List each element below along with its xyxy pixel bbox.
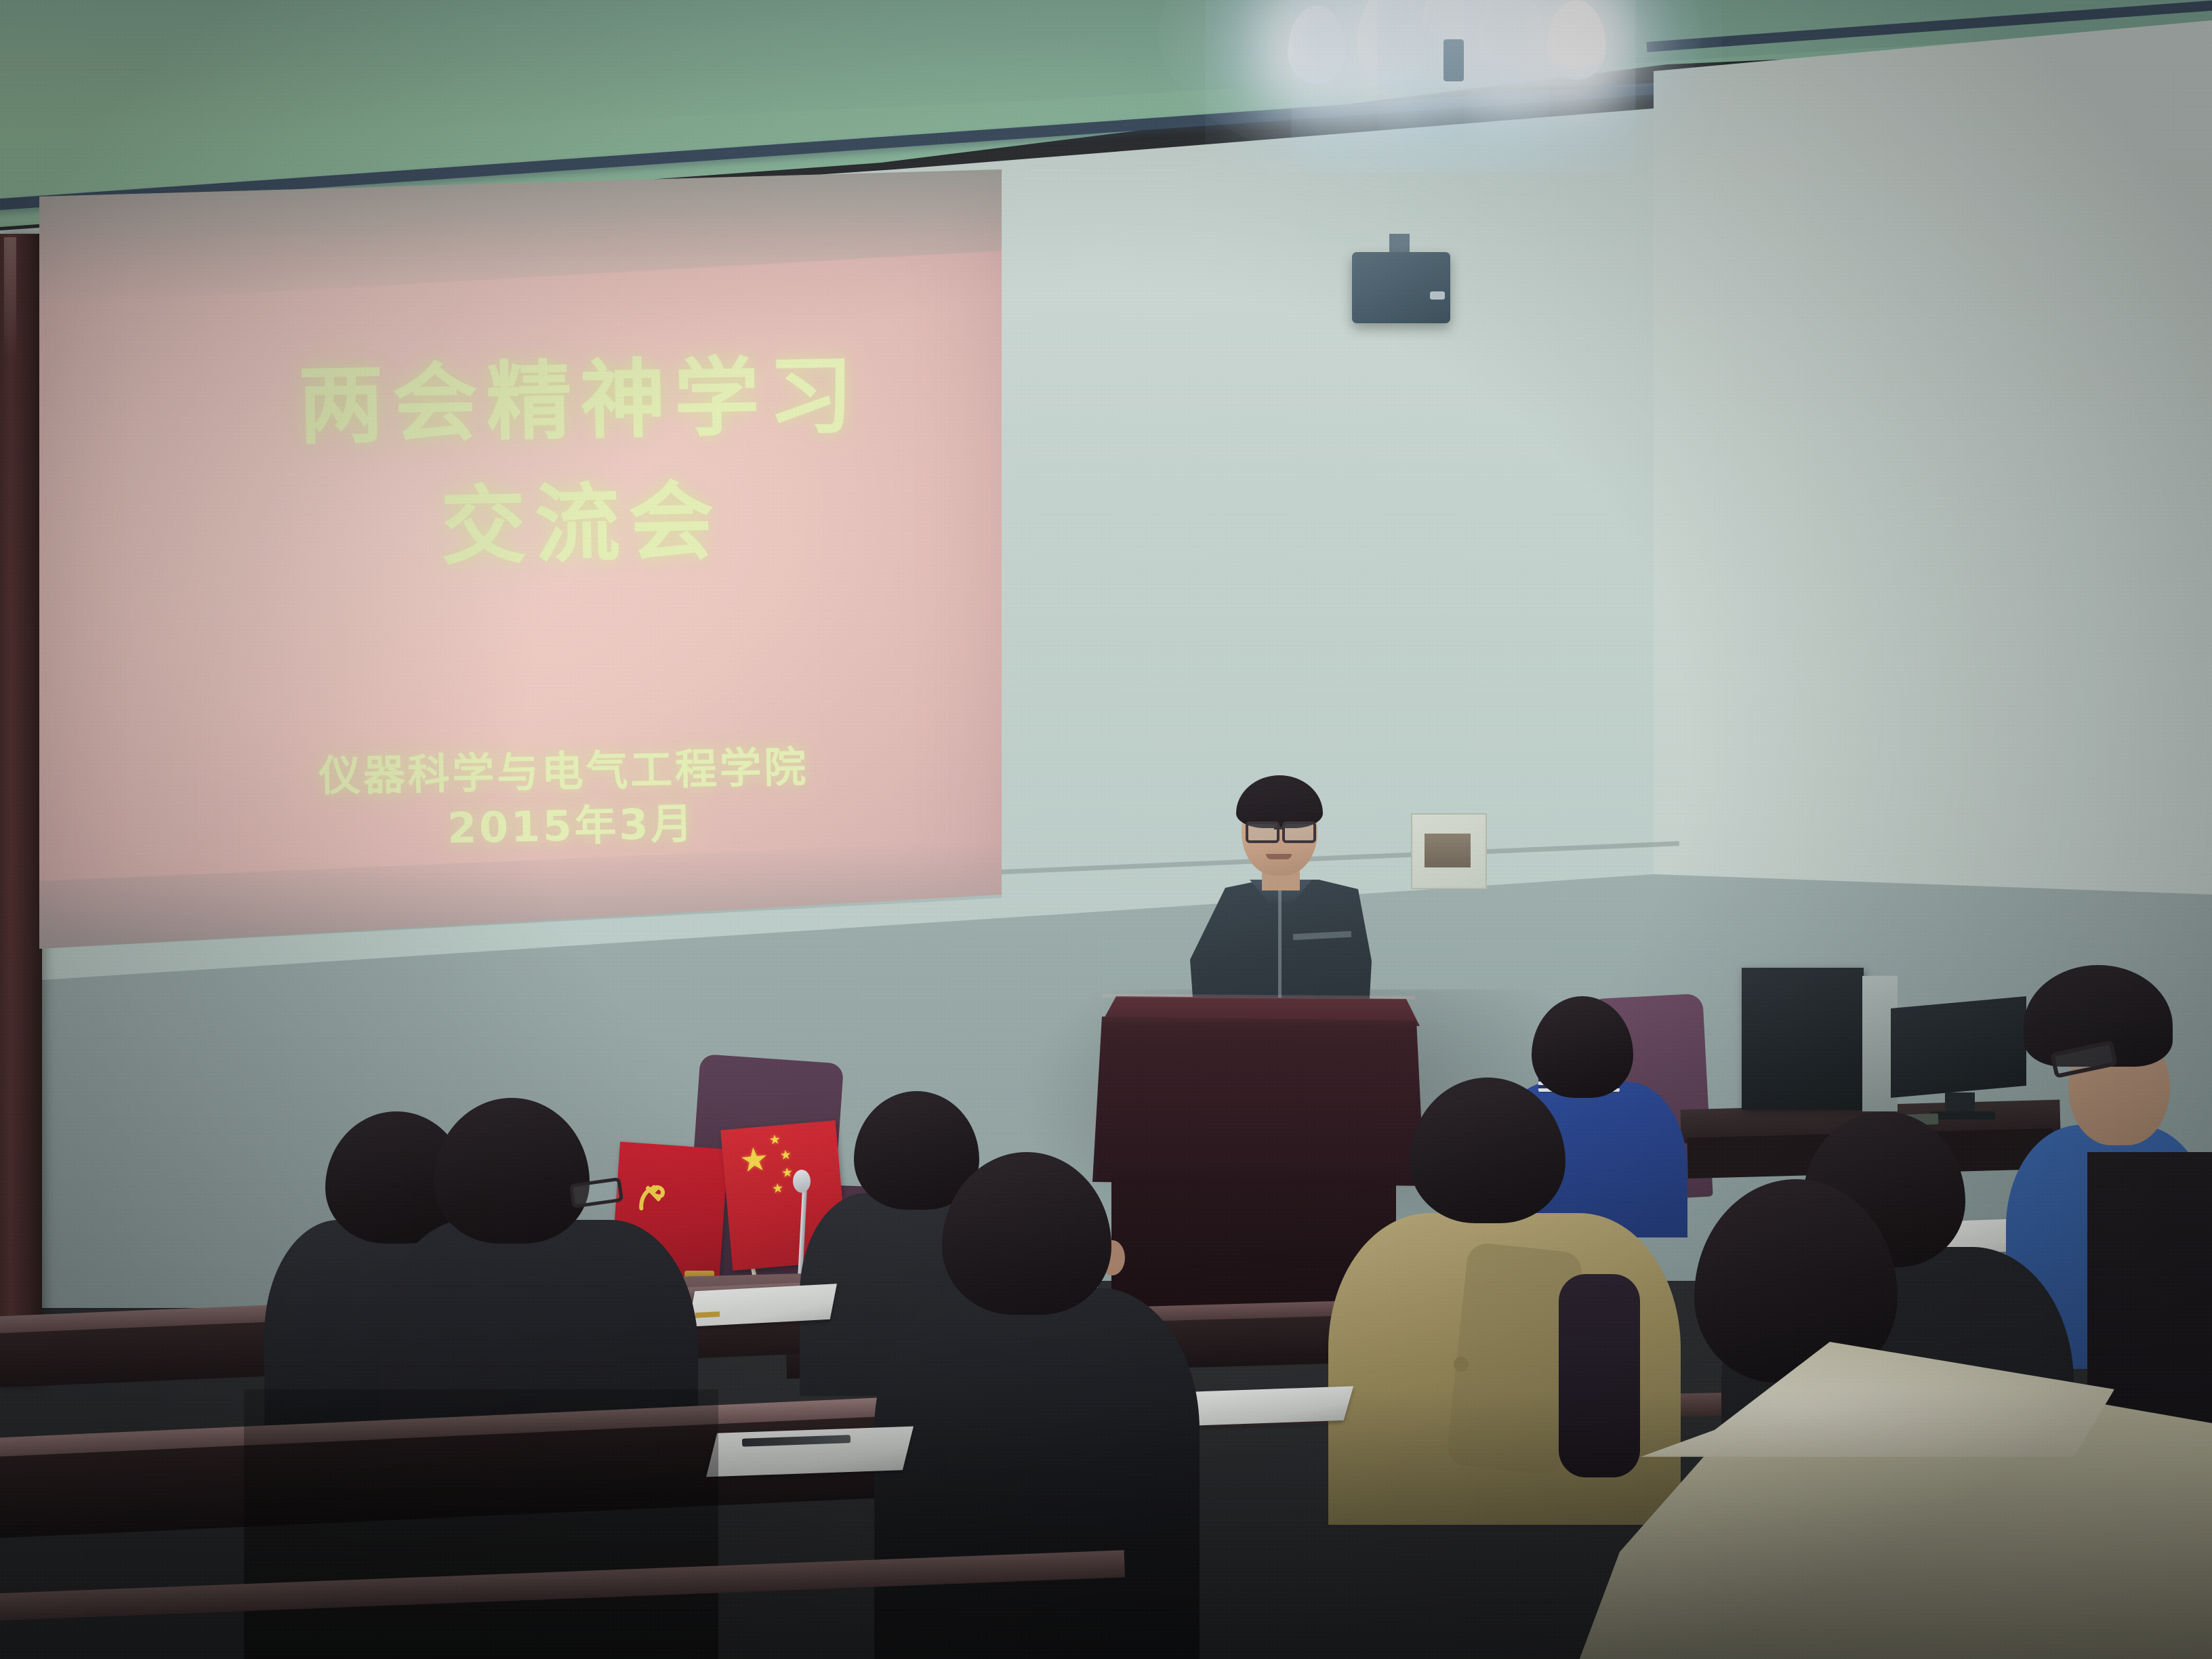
presenter-hair xyxy=(1236,775,1323,828)
door-frame xyxy=(0,234,42,1386)
monitor-foot xyxy=(1930,1111,1995,1120)
coat-button xyxy=(1454,1357,1469,1372)
flag-star-small: ★ xyxy=(769,1133,781,1147)
microphone-head xyxy=(793,1170,811,1193)
flag-star-small: ★ xyxy=(779,1149,792,1162)
glasses-icon xyxy=(1282,821,1316,843)
foreground-shadow xyxy=(244,1389,718,1659)
open-notebook xyxy=(706,1427,914,1477)
hammer-and-sickle-icon xyxy=(632,1178,674,1220)
glasses-icon xyxy=(1246,821,1279,843)
computer-monitor xyxy=(1891,996,2026,1098)
glasses-bridge xyxy=(1274,827,1284,829)
light-bulb xyxy=(1357,0,1427,87)
door-frame-highlight xyxy=(4,237,16,359)
projector-lens-icon xyxy=(1430,291,1445,300)
paper-sheet xyxy=(1174,1386,1353,1426)
flag-star-large: ★ xyxy=(738,1143,770,1178)
wall-electrical-box-inner xyxy=(1425,834,1471,867)
light-stem xyxy=(1443,39,1464,81)
lecture-hall-photo: 两会精神学习 交流会 仪器科学与电气工程学院 2015年3月 xyxy=(0,0,2212,1659)
audience-member-torso xyxy=(874,1288,1200,1659)
flag-star-small: ★ xyxy=(771,1182,784,1195)
light-bulb xyxy=(1477,0,1545,84)
ceiling-light-fixture xyxy=(1240,0,1620,136)
ceiling-projector xyxy=(1352,252,1450,323)
audience-member-shoulder xyxy=(1559,1274,1640,1477)
wooden-lectern xyxy=(1092,1017,1425,1186)
presenter-smile xyxy=(1266,854,1292,859)
wall-right xyxy=(1654,0,2212,1017)
flag-star-small: ★ xyxy=(781,1166,794,1180)
desktop-pc-tower xyxy=(1742,968,1864,1110)
